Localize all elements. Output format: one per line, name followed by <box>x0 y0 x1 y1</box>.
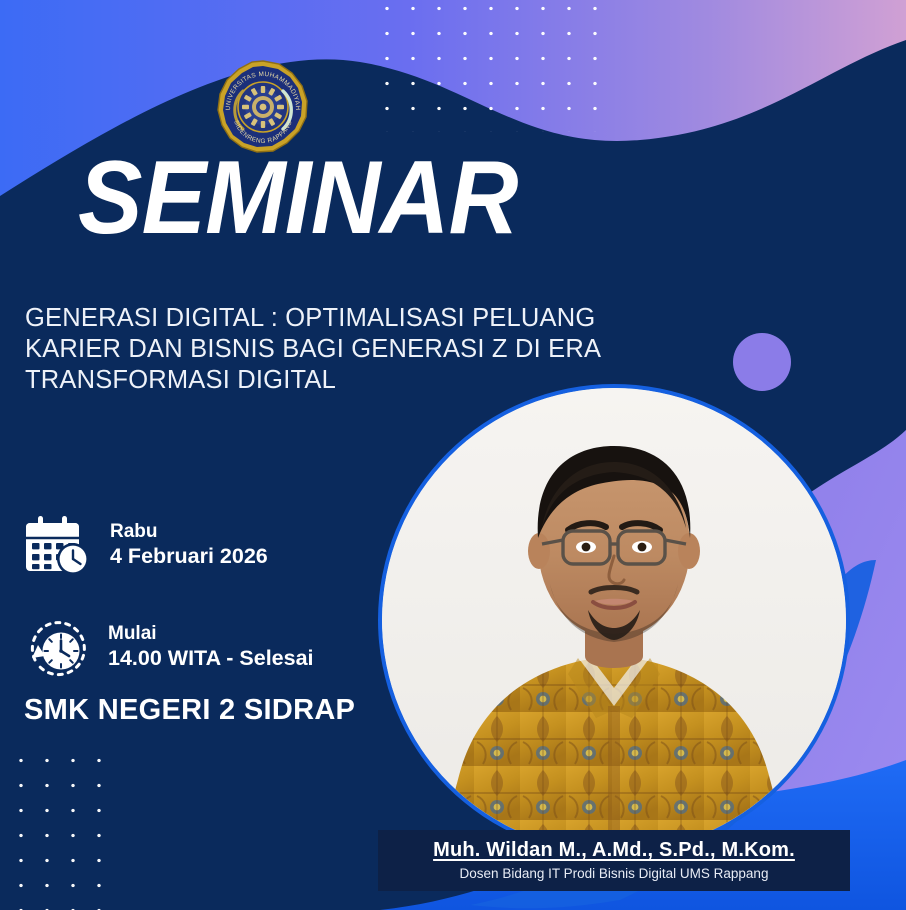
info-row-date: Rabu 4 Februari 2026 <box>24 514 268 576</box>
time-label: Mulai <box>108 623 314 645</box>
seminar-subtitle: GENERASI DIGITAL : OPTIMALISASI PELUANG … <box>25 303 625 396</box>
clock-arrow-icon <box>24 614 94 680</box>
speaker-portrait-illustration <box>382 388 846 852</box>
speaker-name: Muh. Wildan M., A.Md., S.Pd., M.Kom. <box>388 839 840 862</box>
date-label: Rabu <box>110 521 268 543</box>
purple-circle-accent <box>733 333 791 391</box>
speaker-nameplate: Muh. Wildan M., A.Md., S.Pd., M.Kom. Dos… <box>378 830 850 891</box>
speaker-photo <box>378 384 850 856</box>
dot-grid-top-right <box>374 0 614 132</box>
info-row-time: Mulai 14.00 WITA - Selesai <box>24 614 314 680</box>
time-value: 14.00 WITA - Selesai <box>108 645 314 671</box>
date-value: 4 Februari 2026 <box>110 543 268 569</box>
dot-grid-bottom-left <box>8 748 112 910</box>
page-title: SEMINAR <box>78 146 517 250</box>
seminar-poster: UNIVERSITAS MUHAMMADIYAH SIDENRENG RAPPA… <box>0 0 906 910</box>
photo-disc <box>382 388 846 852</box>
calendar-clock-icon <box>24 514 94 576</box>
speaker-role: Dosen Bidang IT Prodi Bisnis Digital UMS… <box>388 866 840 881</box>
venue-name: SMK NEGERI 2 SIDRAP <box>24 694 355 727</box>
